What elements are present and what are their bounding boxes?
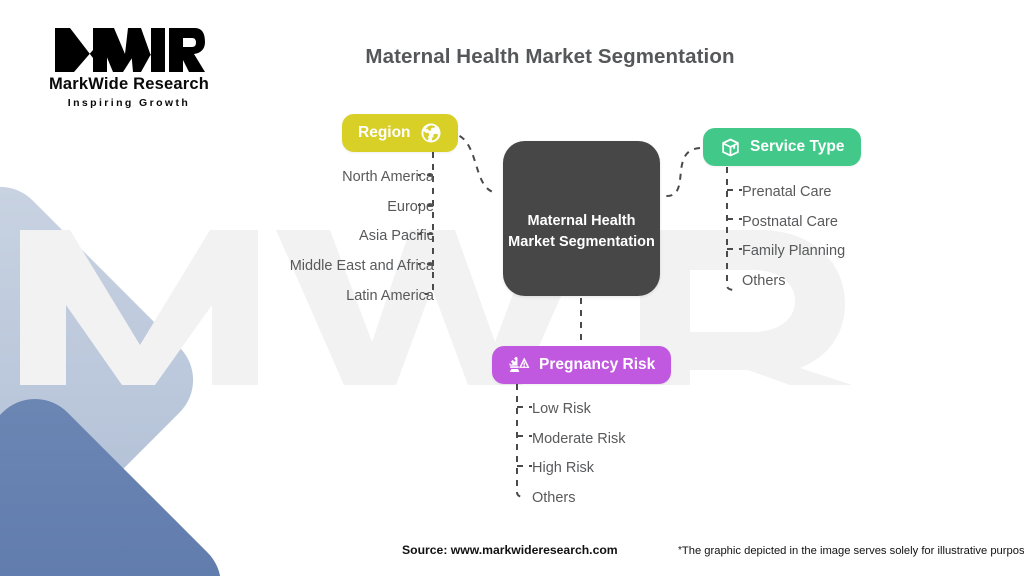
branch-badge-region[interactable]: Region <box>342 114 458 152</box>
logo-company-name: MarkWide Research <box>34 75 224 94</box>
center-node-label: Maternal Health Market Segmentation <box>503 185 660 252</box>
branch-label-service-type: Service Type <box>750 138 845 156</box>
branch-label-pregnancy-risk: Pregnancy Risk <box>539 356 655 374</box>
branch-badge-service-type[interactable]: Service Type <box>703 128 861 166</box>
list-item: Latin America <box>290 282 434 312</box>
list-item: North America <box>290 163 434 193</box>
service-spine <box>727 167 735 290</box>
branch-badge-pregnancy-risk[interactable]: Pregnancy Risk <box>492 346 671 384</box>
logo-mark-icon <box>53 24 205 74</box>
leaf-list-region: North America Europe Asia Pacific Middle… <box>290 163 434 311</box>
list-item: Moderate Risk <box>532 425 625 455</box>
connector-service-to-center <box>666 148 700 196</box>
list-item: Middle East and Africa <box>290 252 434 282</box>
decorative-shape-light <box>0 168 212 576</box>
leaf-list-pregnancy-risk: Low Risk Moderate Risk High Risk Others <box>532 395 625 514</box>
list-item: High Risk <box>532 454 625 484</box>
disclaimer-label: *The graphic depicted in the image serve… <box>678 545 1024 557</box>
risk-spine <box>517 384 525 497</box>
page-title: Maternal Health Market Segmentation <box>280 45 820 69</box>
box-icon <box>719 136 741 158</box>
list-item: Prenatal Care <box>742 178 845 208</box>
risk-warning-icon <box>508 354 530 376</box>
list-item: Europe <box>290 193 434 223</box>
list-item: Others <box>742 267 845 297</box>
logo-tagline: Inspiring Growth <box>34 97 224 109</box>
list-item: Family Planning <box>742 237 845 267</box>
brand-logo: MarkWide Research Inspiring Growth <box>34 24 224 109</box>
center-node[interactable]: Maternal Health Market Segmentation <box>503 141 660 296</box>
infographic-canvas: MarkWide Research Inspiring Growth Mater… <box>0 0 1024 576</box>
list-item: Postnatal Care <box>742 208 845 238</box>
list-item: Asia Pacific <box>290 222 434 252</box>
globe-icon <box>420 122 442 144</box>
branch-label-region: Region <box>358 124 411 142</box>
list-item: Low Risk <box>532 395 625 425</box>
disclaimer-text: The graphic depicted in the image serves… <box>682 545 1024 557</box>
source-label: Source: www.markwideresearch.com <box>402 543 618 557</box>
leaf-list-service-type: Prenatal Care Postnatal Care Family Plan… <box>742 178 845 297</box>
decorative-shape-dark <box>0 380 240 576</box>
list-item: Others <box>532 484 625 514</box>
